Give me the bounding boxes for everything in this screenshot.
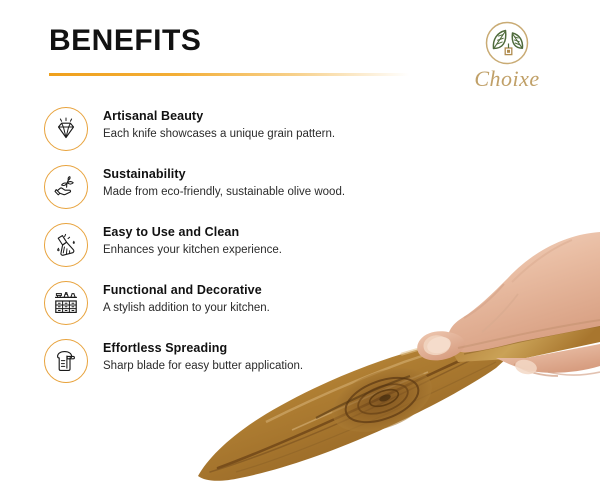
brand-logo: Choixe <box>452 18 562 92</box>
page-title: BENEFITS <box>49 26 201 56</box>
benefit-text: Effortless Spreading Sharp blade for eas… <box>103 338 303 375</box>
brand-name: Choixe <box>452 67 562 91</box>
benefits-list: Artisanal Beauty Each knife showcases a … <box>44 106 464 396</box>
benefit-item: Functional and Decorative A stylish addi… <box>44 280 464 338</box>
benefit-text: Easy to Use and Clean Enhances your kitc… <box>103 222 282 259</box>
benefits-infographic: BENEFITS <box>0 0 600 499</box>
title-divider <box>49 73 409 76</box>
benefit-title: Artisanal Beauty <box>103 108 335 125</box>
diamond-icon <box>44 107 88 151</box>
benefit-text: Sustainability Made from eco-friendly, s… <box>103 164 345 201</box>
benefit-item: Sustainability Made from eco-friendly, s… <box>44 164 464 222</box>
benefit-description: A stylish addition to your kitchen. <box>103 300 270 317</box>
header: BENEFITS <box>0 0 600 96</box>
benefit-description: Enhances your kitchen experience. <box>103 242 282 259</box>
hand-sprout-icon <box>44 165 88 209</box>
kitchen-shelf-icon <box>44 281 88 325</box>
benefit-description: Each knife showcases a unique grain patt… <box>103 126 335 143</box>
benefit-item: Artisanal Beauty Each knife showcases a … <box>44 106 464 164</box>
benefit-title: Easy to Use and Clean <box>103 224 282 241</box>
bread-spreader-icon <box>44 339 88 383</box>
benefit-text: Functional and Decorative A stylish addi… <box>103 280 270 317</box>
benefit-item: Effortless Spreading Sharp blade for eas… <box>44 338 464 396</box>
benefit-title: Functional and Decorative <box>103 282 270 299</box>
cleaning-brush-icon <box>44 223 88 267</box>
benefit-description: Sharp blade for easy butter application. <box>103 358 303 375</box>
benefit-description: Made from eco-friendly, sustainable oliv… <box>103 184 345 201</box>
benefit-item: Easy to Use and Clean Enhances your kitc… <box>44 222 464 280</box>
benefit-title: Effortless Spreading <box>103 340 303 357</box>
olive-leaf-circle-logo-icon <box>481 18 533 70</box>
benefit-text: Artisanal Beauty Each knife showcases a … <box>103 106 335 143</box>
benefit-title: Sustainability <box>103 166 345 183</box>
